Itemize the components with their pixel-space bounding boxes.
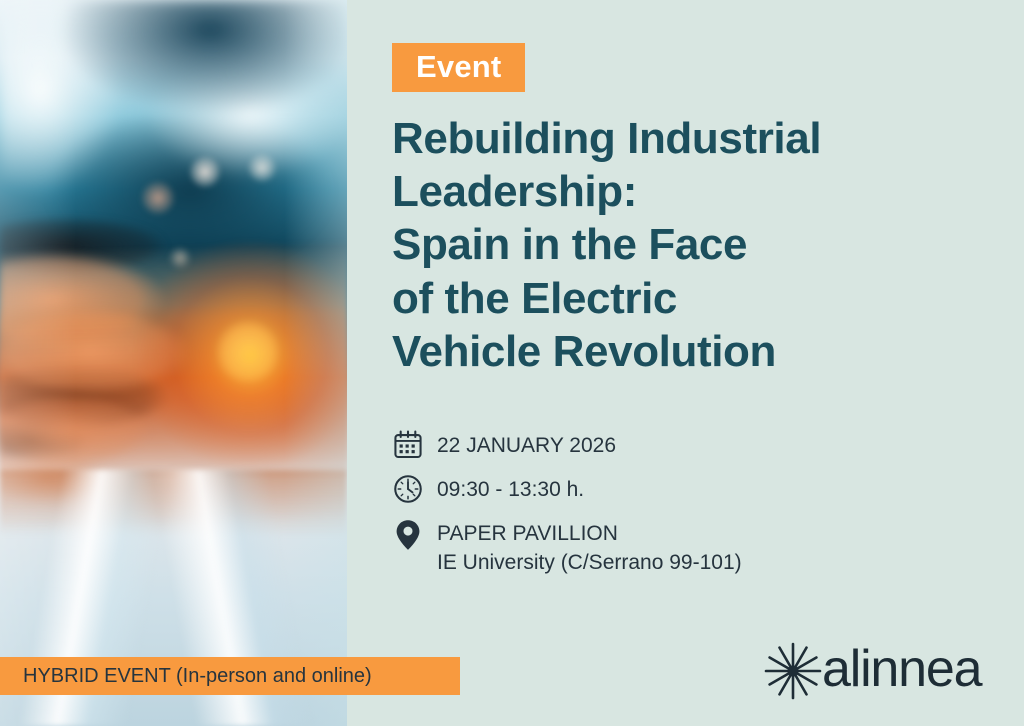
detail-row-date: 22 JANUARY 2026 xyxy=(391,428,991,462)
venue-name: PAPER PAVILLION xyxy=(437,520,742,549)
clock-icon xyxy=(391,472,425,506)
content-panel: Event Rebuilding Industrial Leadership: … xyxy=(347,0,1024,726)
hybrid-event-banner: HYBRID EVENT (In-person and online) xyxy=(0,657,460,695)
brand-wordmark: alinnea xyxy=(822,643,981,699)
event-details: 22 JANUARY 2026 xyxy=(391,428,991,588)
page-title: Rebuilding Industrial Leadership: Spain … xyxy=(392,112,1002,378)
detail-text-date: 22 JANUARY 2026 xyxy=(437,428,616,461)
event-poster: Event Rebuilding Industrial Leadership: … xyxy=(0,0,1024,726)
title-line-4: of the Electric xyxy=(392,272,1002,325)
hybrid-event-label: HYBRID EVENT (In-person and online) xyxy=(23,666,372,686)
title-line-2: Leadership: xyxy=(392,165,1002,218)
starburst-icon xyxy=(762,640,824,702)
title-line-3: Spain in the Face xyxy=(392,218,1002,271)
venue-address: IE University (C/Serrano 99-101) xyxy=(437,549,742,578)
detail-row-time: 09:30 - 13:30 h. xyxy=(391,472,991,506)
title-line-5: Vehicle Revolution xyxy=(392,325,1002,378)
calendar-icon xyxy=(391,428,425,462)
event-date: 22 JANUARY 2026 xyxy=(437,432,616,461)
location-pin-icon xyxy=(391,516,425,552)
detail-text-time: 09:30 - 13:30 h. xyxy=(437,472,584,505)
hero-photo xyxy=(0,0,347,726)
detail-text-location: PAPER PAVILLION IE University (C/Serrano… xyxy=(437,516,742,578)
photo-vignette-layer xyxy=(0,0,347,726)
event-time: 09:30 - 13:30 h. xyxy=(437,476,584,505)
detail-row-location: PAPER PAVILLION IE University (C/Serrano… xyxy=(391,516,991,578)
title-line-1: Rebuilding Industrial xyxy=(392,112,1002,165)
event-badge: Event xyxy=(392,43,525,92)
brand-logo: alinnea xyxy=(762,640,981,702)
